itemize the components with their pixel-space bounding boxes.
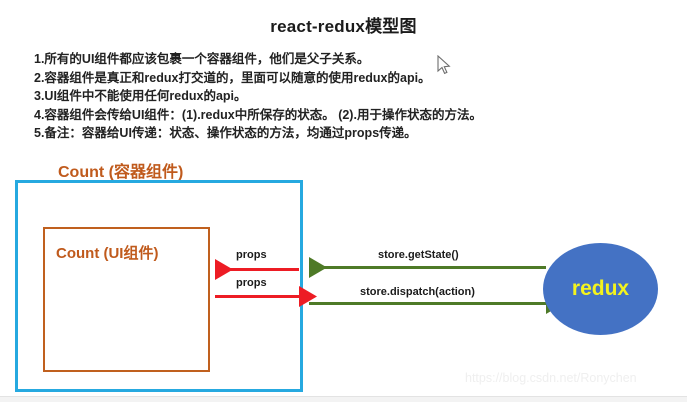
watermark: https://blog.csdn.net/Ronychen xyxy=(465,371,637,385)
redux-store-label: redux xyxy=(543,243,658,335)
ui-component-label: Count (UI组件) xyxy=(56,242,158,263)
props-top-label: props xyxy=(236,249,267,261)
note-line: 2.容器组件是真正和redux打交道的，里面可以随意的使用redux的api。 xyxy=(34,69,654,88)
note-line: 4.容器组件会传给UI组件：(1).redux中所保存的状态。 (2).用于操作… xyxy=(34,106,654,125)
page-title: react-redux模型图 xyxy=(0,12,687,37)
props-bottom-label: props xyxy=(236,277,267,289)
store-getstate-label: store.getState() xyxy=(378,249,459,261)
note-line: 3.UI组件中不能使用任何redux的api。 xyxy=(34,87,654,106)
container-component-label: Count (容器组件) xyxy=(58,158,183,182)
note-line: 5.备注：容器给UI传递：状态、操作状态的方法，均通过props传递。 xyxy=(34,124,654,143)
note-line: 1.所有的UI组件都应该包裹一个容器组件，他们是父子关系。 xyxy=(34,50,654,69)
mouse-cursor-icon xyxy=(437,55,451,75)
notes-list: 1.所有的UI组件都应该包裹一个容器组件，他们是父子关系。 2.容器组件是真正和… xyxy=(34,50,654,143)
store-dispatch-label: store.dispatch(action) xyxy=(360,286,475,298)
diagram-canvas: react-redux模型图 1.所有的UI组件都应该包裹一个容器组件，他们是父… xyxy=(0,0,687,402)
bottom-strip xyxy=(0,396,687,402)
